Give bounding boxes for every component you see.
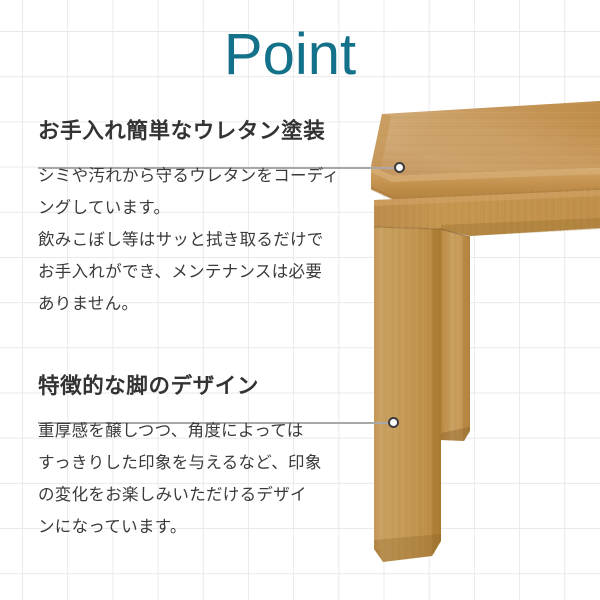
infographic-canvas: Point お手入れ簡単なウレタン塗装 シミや汚れから守るウレタンをコーディ ン…	[0, 0, 600, 600]
section-1-line-2: ングしています。	[38, 192, 368, 224]
section-1-heading: お手入れ簡単なウレタン塗装	[38, 118, 368, 144]
section-2-line-3: の変化をお楽しみいただけるデザイ	[38, 479, 368, 511]
table-leg-front	[368, 220, 448, 570]
callout-dot-leg	[388, 417, 399, 428]
page-title: Point	[0, 22, 580, 88]
section-1-line-4: お手入れができ、メンテナンスは必要	[38, 256, 368, 288]
section-1-line-1: シミや汚れから守るウレタンをコーディ	[38, 160, 368, 192]
section-2-body: 重厚感を醸しつつ、角度によっては すっきりした印象を与えるなど、印象 の変化をお…	[38, 415, 368, 543]
section-2-heading: 特徴的な脚のデザイン	[38, 373, 368, 399]
section-1-body: シミや汚れから守るウレタンをコーディ ングしています。 飲みこぼし等はサッと拭き…	[38, 160, 368, 320]
point-section-1: お手入れ簡単なウレタン塗装 シミや汚れから守るウレタンをコーディ ングしています…	[38, 118, 368, 320]
table-leg-rear	[435, 225, 480, 450]
section-2-line-2: すっきりした印象を与えるなど、印象	[38, 447, 368, 479]
point-section-2: 特徴的な脚のデザイン 重厚感を醸しつつ、角度によっては すっきりした印象を与える…	[38, 373, 368, 543]
section-1-line-3: 飲みこぼし等はサッと拭き取るだけで	[38, 224, 368, 256]
callout-dot-tabletop	[394, 162, 405, 173]
section-2-line-1: 重厚感を醸しつつ、角度によっては	[38, 415, 368, 447]
section-2-line-4: ンになっています。	[38, 511, 368, 543]
section-1-line-5: ありません。	[38, 288, 368, 320]
